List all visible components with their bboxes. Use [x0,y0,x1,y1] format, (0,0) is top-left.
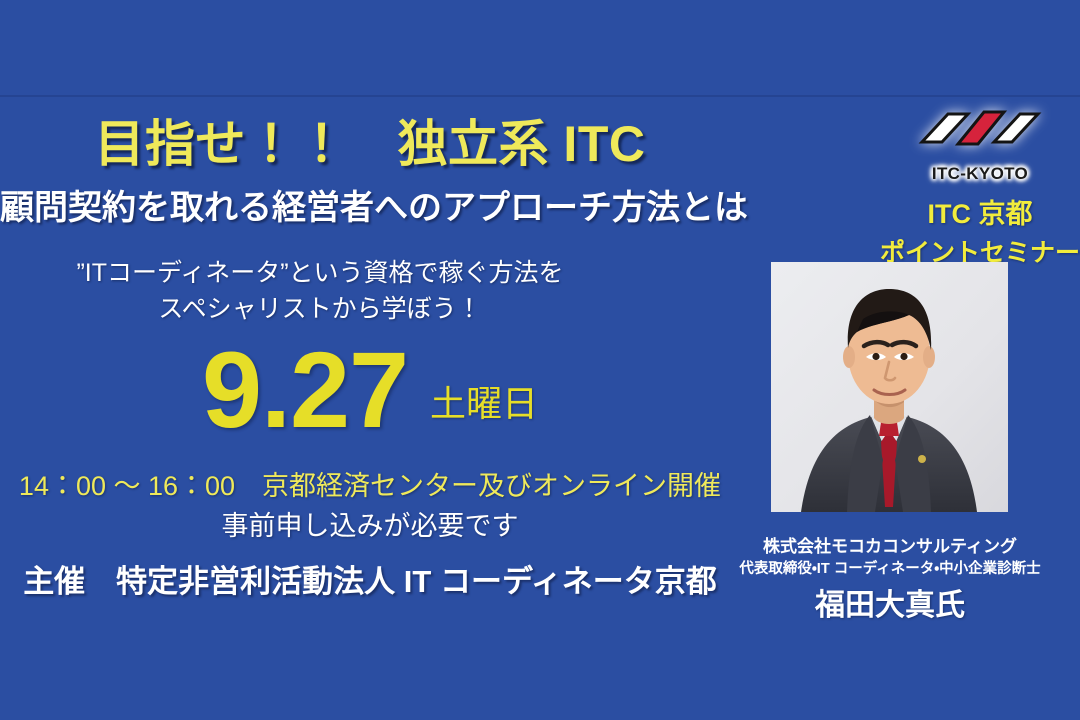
event-day-of-week: 土曜日 [430,375,538,427]
page-title: 目指せ！！ 独立系 ITC [0,104,740,176]
lead-paragraph: ”ITコーディネータ”という資格で稼ぐ方法を スペシャリストから学ぼう！ [0,256,640,327]
speaker-name: 福田大真氏 [725,580,1055,624]
event-time-and-venue: 14：00 ～ 16：00 京都経済センター及びオンライン開催 [0,464,740,503]
itc-kyoto-logo-icon [918,100,1042,166]
main-content-column: 目指せ！！ 独立系 ITC 顧問契約を取れる経営者へのアプローチ方法とは ”IT… [0,0,740,720]
logo-caption-line-1: ITC 京都 [880,192,1080,231]
speaker-title: 代表取締役・IT コーディネータ・中小企業診断士 [715,557,1065,578]
seminar-poster: 目指せ！！ 独立系 ITC 顧問契約を取れる経営者へのアプローチ方法とは ”IT… [0,0,1080,720]
event-organizer: 主催 特定非営利活動法人 IT コーディネータ京都 [0,556,740,601]
speaker-company: 株式会社モコカコンサルティング [725,532,1055,557]
lead-line-1: ”ITコーディネータ”という資格で稼ぐ方法を [76,259,563,287]
speaker-photo [771,262,1008,512]
event-date-row: 9.27 土曜日 [0,340,740,439]
lead-line-2: スペシャリストから学ぼう！ [0,292,640,328]
pre-registration-note: 事前申し込みが必要です [0,504,740,543]
event-date: 9.27 [202,340,408,439]
logo-wordmark: ITC-KYOTO [932,164,1028,184]
logo-block: ITC-KYOTO ITC 京都 ポイントセミナー [880,100,1080,269]
page-subtitle: 顧問契約を取れる経営者へのアプローチ方法とは [0,180,740,229]
